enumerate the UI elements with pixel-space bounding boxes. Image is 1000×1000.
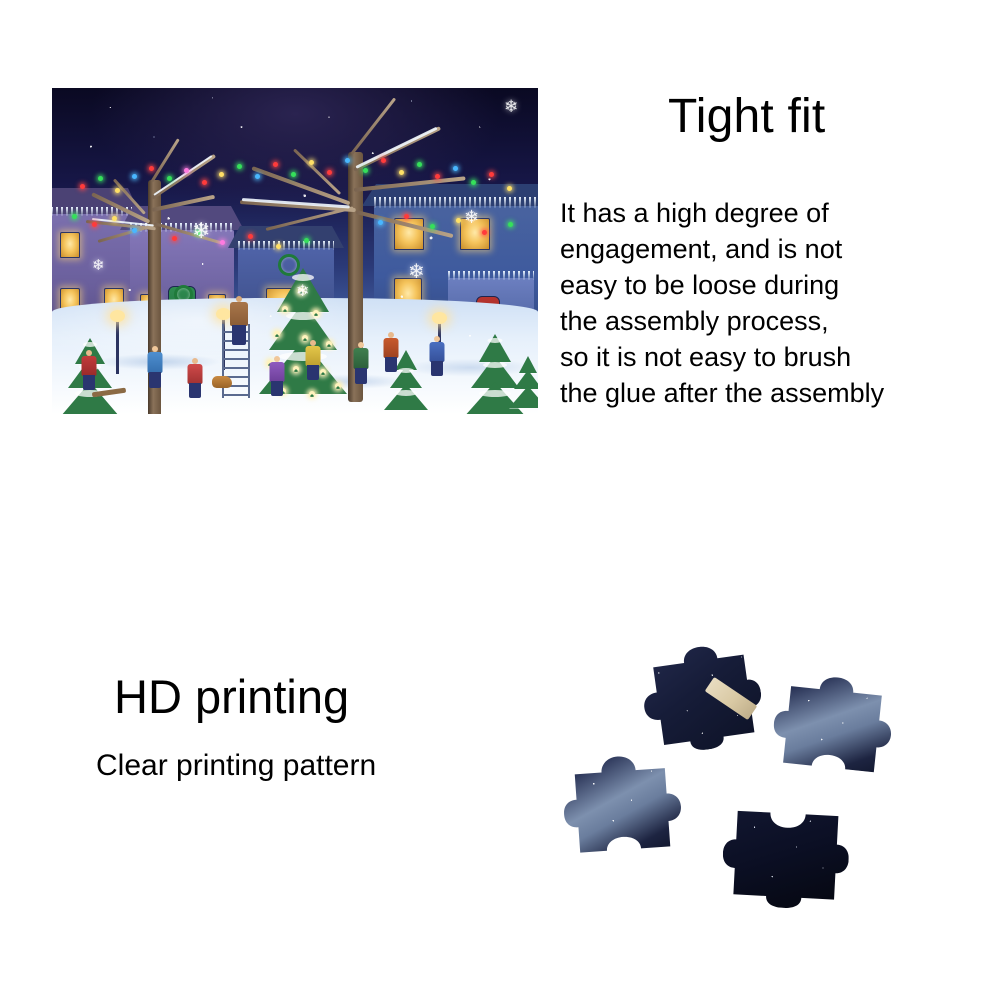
snowflake-icon: ❄	[408, 262, 425, 282]
puzzle-piece-top-right	[768, 666, 898, 782]
tight-fit-body-line: the assembly process,	[560, 304, 980, 340]
loose-puzzle-pieces	[555, 640, 915, 920]
puzzle-piece-bottom-right	[720, 795, 852, 911]
snowflake-icon: ❄	[504, 98, 518, 115]
tight-fit-body-line: the glue after the assembly	[560, 376, 980, 412]
snowflake-icon: ❄	[296, 284, 309, 300]
snowflake-icon: ❄	[464, 208, 479, 226]
tight-fit-title: Tight fit	[668, 92, 825, 142]
tight-fit-body-line: easy to be loose during	[560, 268, 980, 304]
puzzle-piece-bottom-left	[557, 746, 686, 860]
hd-printing-title: HD printing	[114, 672, 349, 721]
snowflake-icon: ❄	[192, 220, 210, 242]
hd-printing-subtitle: Clear printing pattern	[96, 749, 376, 782]
tight-fit-body-line: so it is not easy to brush	[560, 340, 980, 376]
tight-fit-body: It has a high degree of engagement, and …	[560, 196, 980, 411]
tight-fit-body-line: It has a high degree of	[560, 196, 980, 232]
tight-fit-body-line: engagement, and is not	[560, 232, 980, 268]
puzzle-piece-top-left	[634, 636, 768, 758]
snowflake-icon: ❄	[92, 258, 105, 273]
falling-snow	[52, 88, 538, 414]
christmas-village-puzzle-image: ❄ ❄ ❄ ❄ ❄ ❄	[52, 88, 538, 414]
